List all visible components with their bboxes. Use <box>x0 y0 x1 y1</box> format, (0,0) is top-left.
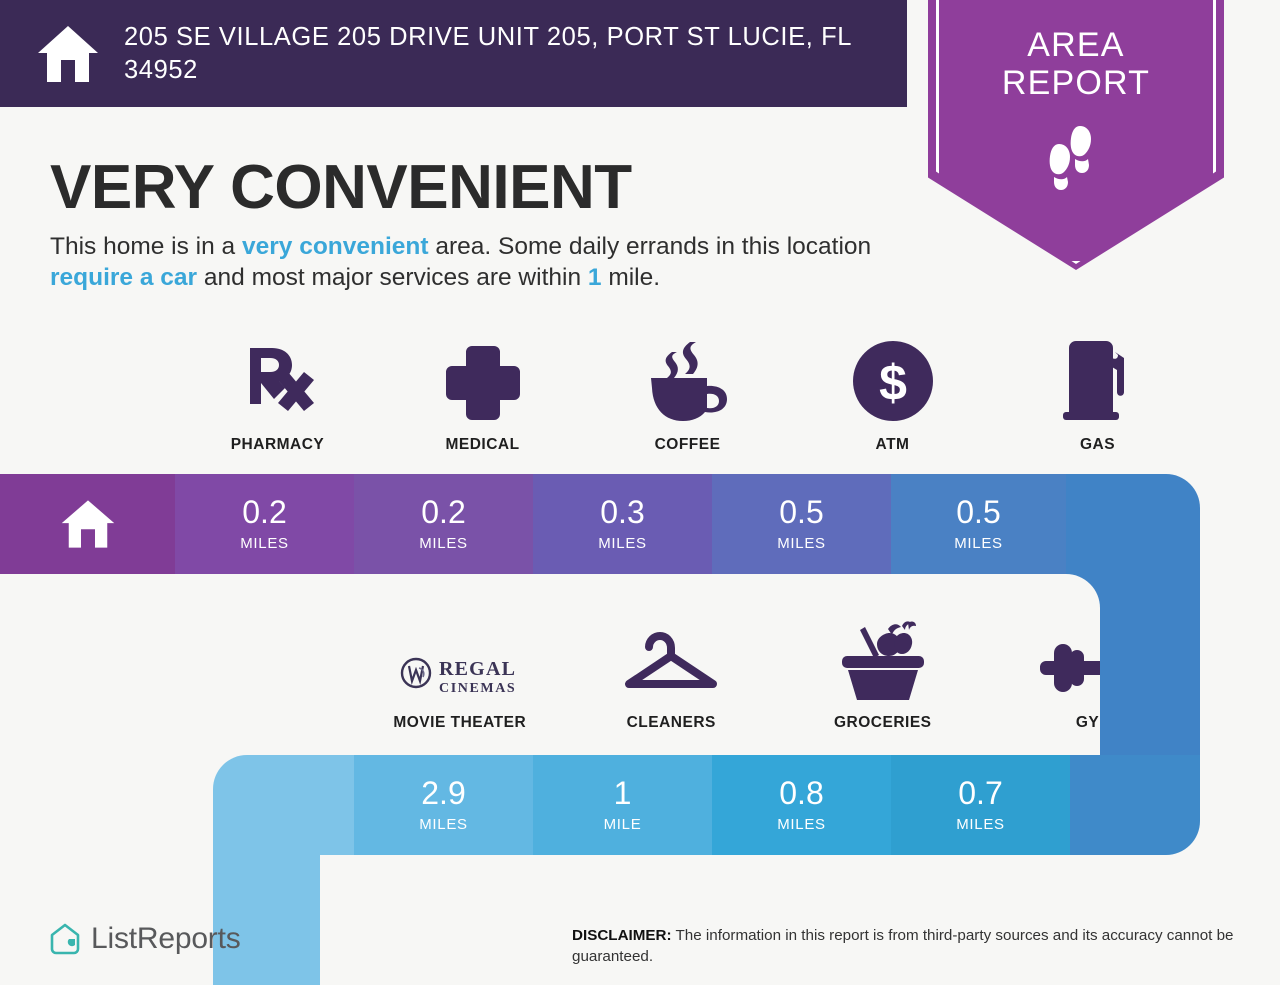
amenity-label: GAS <box>1080 436 1115 454</box>
ribbon-segment: 2.9MILES <box>354 755 533 855</box>
distance-unit: MILES <box>891 535 1066 552</box>
ribbon-segment: 0.2MILES <box>354 474 533 574</box>
property-address: 205 SE Village 205 Drive Unit 205, Port … <box>124 21 884 86</box>
distance-unit: MILES <box>712 816 891 833</box>
distance-number: 0.7 <box>891 777 1070 809</box>
distance-value: 2.9MILES <box>354 777 533 833</box>
ribbon-segment: 0.8MILES <box>712 755 891 855</box>
summary-highlight-3: require a car <box>50 264 197 291</box>
home-icon <box>36 24 100 84</box>
amenity-medical: MEDICAL <box>380 340 585 454</box>
distance-unit: MILES <box>533 535 712 552</box>
distance-value: 0.5MILES <box>712 496 891 552</box>
home-icon <box>60 498 116 550</box>
distance-value: 0.7MILES <box>891 777 1070 833</box>
summary-plain-4: and most major services are within <box>197 264 588 291</box>
distance-number: 2.9 <box>354 777 533 809</box>
distance-unit: MILES <box>354 535 533 552</box>
listreports-logo: ListReports <box>50 922 241 956</box>
ribbon-segment: 0.5MILES <box>891 474 1066 574</box>
distance-value: 0.5MILES <box>891 496 1066 552</box>
area-report-infographic: 205 SE Village 205 Drive Unit 205, Port … <box>0 0 1280 985</box>
distance-value: 0.2MILES <box>175 496 354 552</box>
distance-value: 1MILE <box>533 777 712 833</box>
distance-unit: MILES <box>175 535 354 552</box>
distance-value: 0.3MILES <box>533 496 712 552</box>
distance-value: 0.2MILES <box>354 496 533 552</box>
gas-pump-icon <box>1059 340 1137 422</box>
distance-number: 0.5 <box>891 496 1066 528</box>
ribbon-vertical-right <box>1100 574 1200 755</box>
ribbon-corner-row2-right <box>1070 755 1200 855</box>
distance-unit: MILE <box>533 816 712 833</box>
disclaimer: DISCLAIMER: The information in this repo… <box>572 926 1242 967</box>
distance-ribbon: 0.2MILES0.2MILES0.3MILES0.5MILES0.5MILES… <box>0 474 1280 985</box>
summary-plain-0: This home is in a <box>50 233 242 260</box>
dollar-circle-icon: $ <box>852 340 934 422</box>
distance-number: 0.5 <box>712 496 891 528</box>
distance-unit: MILES <box>891 816 1070 833</box>
svg-text:$: $ <box>879 355 907 411</box>
distance-number: 0.3 <box>533 496 712 528</box>
amenity-atm: $ ATM <box>790 340 995 454</box>
distance-number: 1 <box>533 777 712 809</box>
amenity-icon-row-1: PHARMACY MEDICAL COFFEE <box>175 340 1200 454</box>
prescription-rx-icon <box>242 340 314 422</box>
ribbon-segment: 0.7MILES <box>891 755 1070 855</box>
distance-value: 0.8MILES <box>712 777 891 833</box>
ribbon-corner-top-right <box>1066 474 1200 574</box>
amenity-coffee: COFFEE <box>585 340 790 454</box>
ribbon-segment: 0.3MILES <box>533 474 712 574</box>
ribbon-inner-corner <box>320 855 356 891</box>
distance-unit: MILES <box>354 816 533 833</box>
area-report-badge: AREA REPORT <box>928 0 1224 270</box>
badge-title-line2: REPORT <box>928 64 1224 102</box>
listreports-house-icon <box>50 923 80 955</box>
amenity-pharmacy: PHARMACY <box>175 340 380 454</box>
ribbon-corner-row2-left <box>213 755 354 855</box>
distance-number: 0.2 <box>175 496 354 528</box>
ribbon-vertical-left <box>213 855 320 985</box>
coffee-cup-icon <box>645 340 731 422</box>
summary-plain-2: area. Some daily errands in this locatio… <box>429 233 872 260</box>
ribbon-home-cell <box>0 474 175 574</box>
summary-highlight-1: very convenient <box>242 233 429 260</box>
summary-plain-6: mile. <box>602 264 661 291</box>
summary-text: This home is in a very convenient area. … <box>50 232 910 294</box>
disclaimer-label: DISCLAIMER: <box>572 927 672 944</box>
badge-title-line1: AREA <box>928 26 1224 64</box>
listreports-wordmark: ListReports <box>91 922 241 956</box>
summary-highlight-5: 1 <box>588 264 602 291</box>
header-bar: 205 SE Village 205 Drive Unit 205, Port … <box>0 0 907 107</box>
page-title: VERY CONVENIENT <box>50 152 632 223</box>
disclaimer-text: The information in this report is from t… <box>572 927 1233 965</box>
badge-title: AREA REPORT <box>928 26 1224 103</box>
amenity-label: MEDICAL <box>445 436 519 454</box>
amenity-label: PHARMACY <box>231 436 325 454</box>
amenity-label: COFFEE <box>655 436 721 454</box>
amenity-gas: GAS <box>995 340 1200 454</box>
distance-number: 0.2 <box>354 496 533 528</box>
medical-cross-icon <box>444 340 522 422</box>
ribbon-segment: 1MILE <box>533 755 712 855</box>
amenity-label: ATM <box>876 436 910 454</box>
distance-unit: MILES <box>712 535 891 552</box>
distance-number: 0.8 <box>712 777 891 809</box>
footprints-icon <box>1040 124 1112 190</box>
ribbon-segment: 0.5MILES <box>712 474 891 574</box>
ribbon-segment: 0.2MILES <box>175 474 354 574</box>
